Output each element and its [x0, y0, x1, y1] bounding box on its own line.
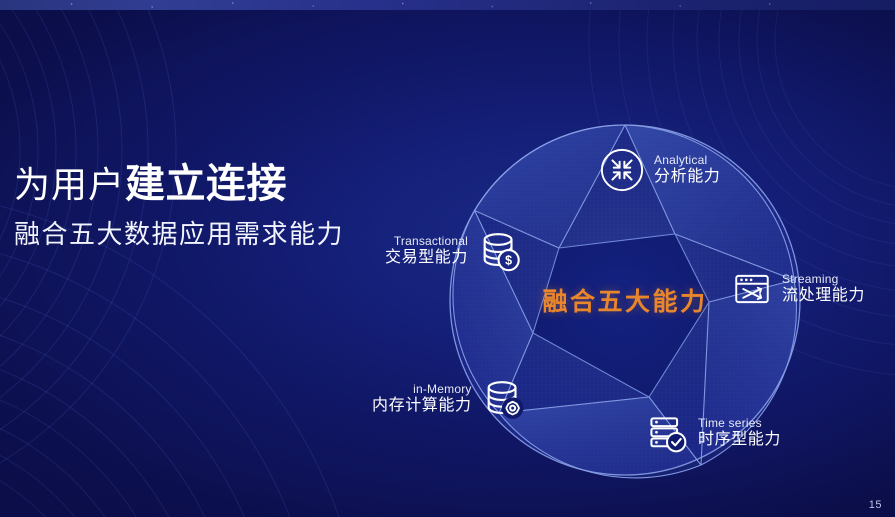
- server-check-icon: [645, 411, 689, 455]
- title-emphasis: 建立连接: [125, 162, 287, 206]
- node-analytical-cn: 分析能力: [654, 168, 720, 187]
- database-dollar-icon: $: [477, 228, 523, 274]
- node-time-series-en: Time series: [698, 416, 781, 430]
- node-transactional-text: Transactional 交易型能力: [385, 234, 468, 267]
- page-title: 为用户建立连接: [14, 162, 434, 207]
- node-time-series-text: Time series 时序型能力: [698, 416, 781, 449]
- page-subtitle: 融合五大数据应用需求能力: [14, 217, 434, 251]
- node-analytical[interactable]: Analytical 分析能力: [599, 147, 720, 193]
- node-in-memory[interactable]: in-Memory 内存计算能力: [372, 376, 527, 422]
- node-transactional-en: Transactional: [385, 234, 468, 248]
- node-analytical-text: Analytical 分析能力: [654, 153, 720, 186]
- node-in-memory-cn: 内存计算能力: [372, 397, 472, 416]
- node-streaming-en: Streaming: [782, 272, 865, 286]
- slide-canvas: 为用户建立连接 融合五大数据应用需求能力: [0, 0, 895, 517]
- top-accent-strip: [0, 0, 895, 10]
- node-streaming-cn: 流处理能力: [782, 287, 865, 306]
- node-time-series-cn: 时序型能力: [698, 431, 781, 450]
- node-in-memory-en: in-Memory: [372, 382, 472, 396]
- page-number: 15: [869, 499, 882, 511]
- browser-shuffle-icon: [731, 268, 773, 310]
- node-transactional[interactable]: Transactional 交易型能力 $: [385, 228, 523, 274]
- database-gear-icon: [481, 376, 527, 422]
- heading-block: 为用户建立连接 融合五大数据应用需求能力: [14, 162, 434, 251]
- node-in-memory-text: in-Memory 内存计算能力: [372, 382, 472, 415]
- node-transactional-cn: 交易型能力: [385, 249, 468, 268]
- node-analytical-en: Analytical: [654, 153, 720, 167]
- svg-text:$: $: [505, 253, 512, 267]
- node-time-series[interactable]: Time series 时序型能力: [645, 411, 781, 455]
- converging-arrows-icon: [599, 147, 645, 193]
- node-streaming[interactable]: Streaming 流处理能力: [731, 268, 865, 310]
- node-streaming-text: Streaming 流处理能力: [782, 272, 865, 305]
- title-prefix: 为用户: [14, 164, 125, 205]
